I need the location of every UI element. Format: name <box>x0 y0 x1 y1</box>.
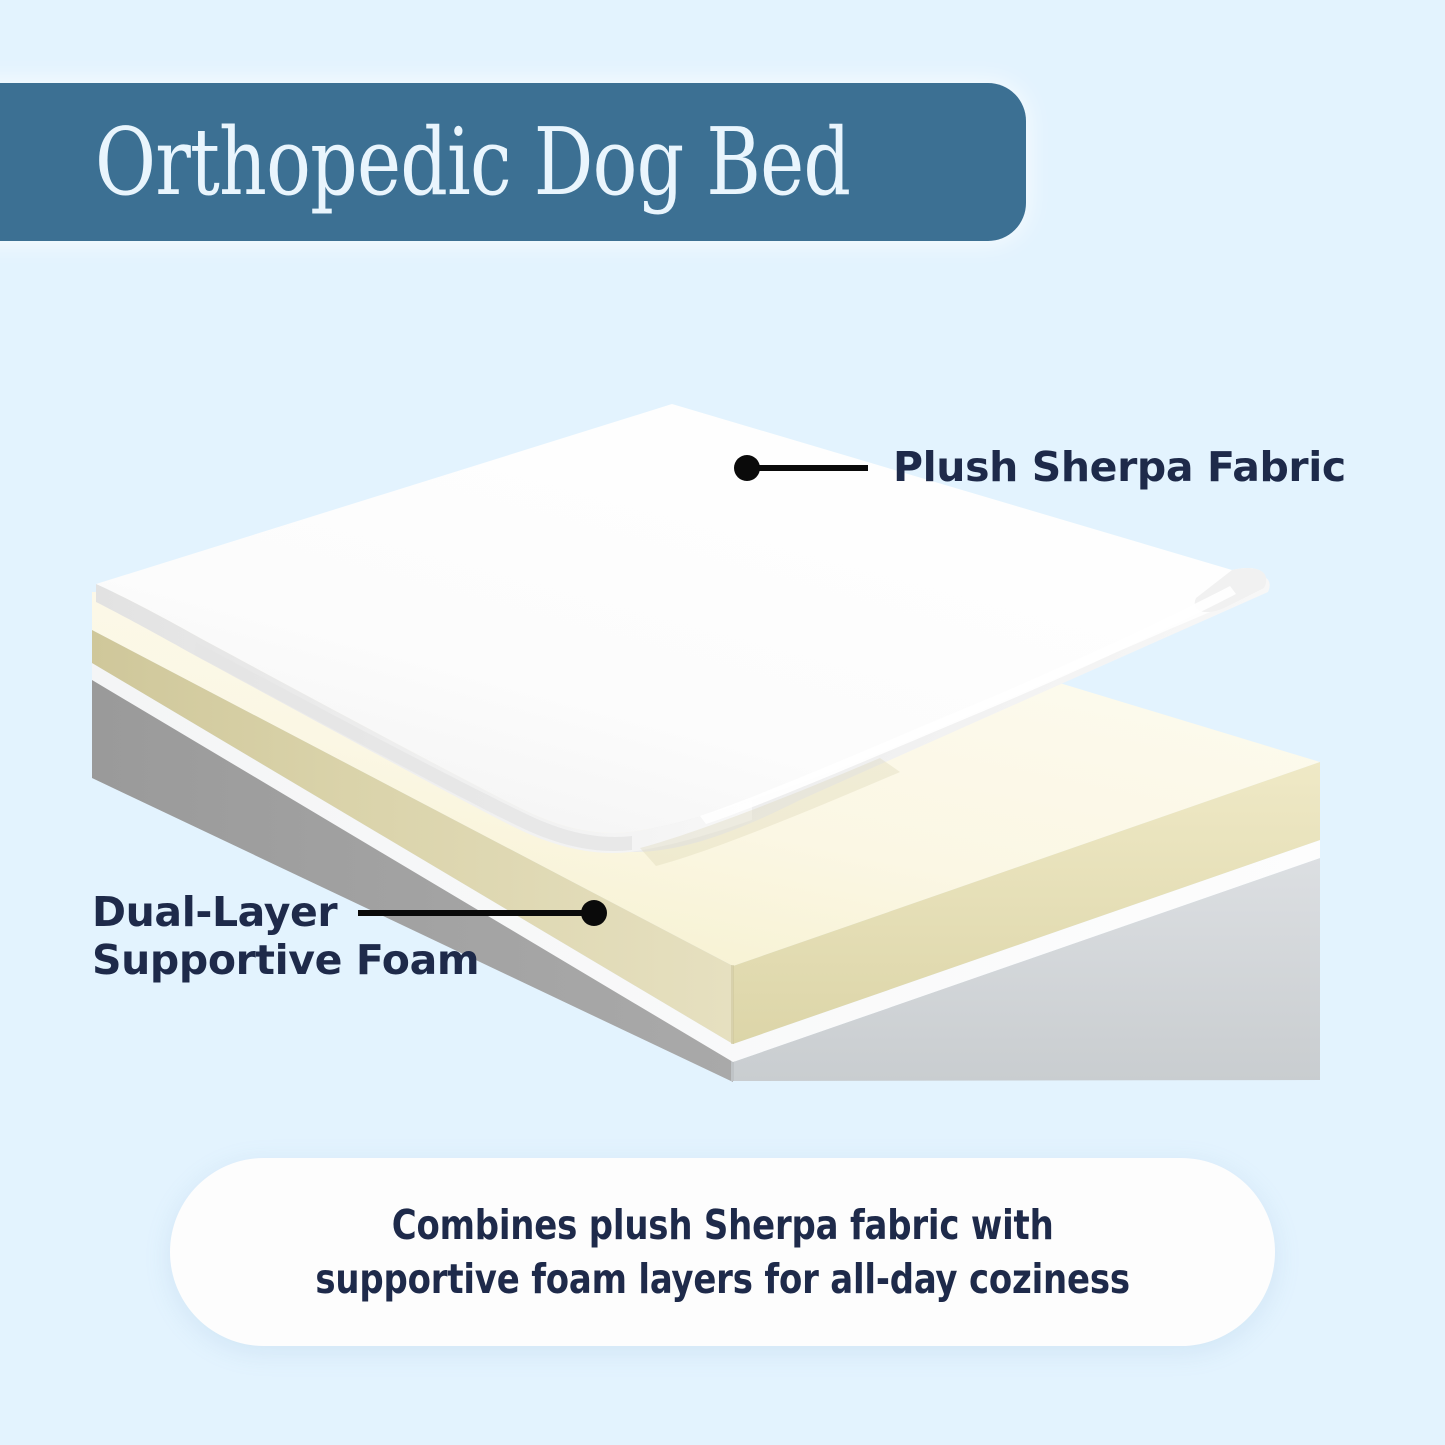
page-title: Orthopedic Dog Bed <box>95 116 850 209</box>
callout-label-foam: Dual-Layer Supportive Foam <box>92 888 479 985</box>
caption-card: Combines plush Sherpa fabric with suppor… <box>170 1158 1275 1346</box>
infographic-page: Orthopedic Dog Bed <box>0 0 1445 1445</box>
callout-label-sherpa: Plush Sherpa Fabric <box>893 443 1346 491</box>
caption-text: Combines plush Sherpa fabric with suppor… <box>315 1198 1129 1306</box>
title-banner: Orthopedic Dog Bed <box>0 83 1026 241</box>
